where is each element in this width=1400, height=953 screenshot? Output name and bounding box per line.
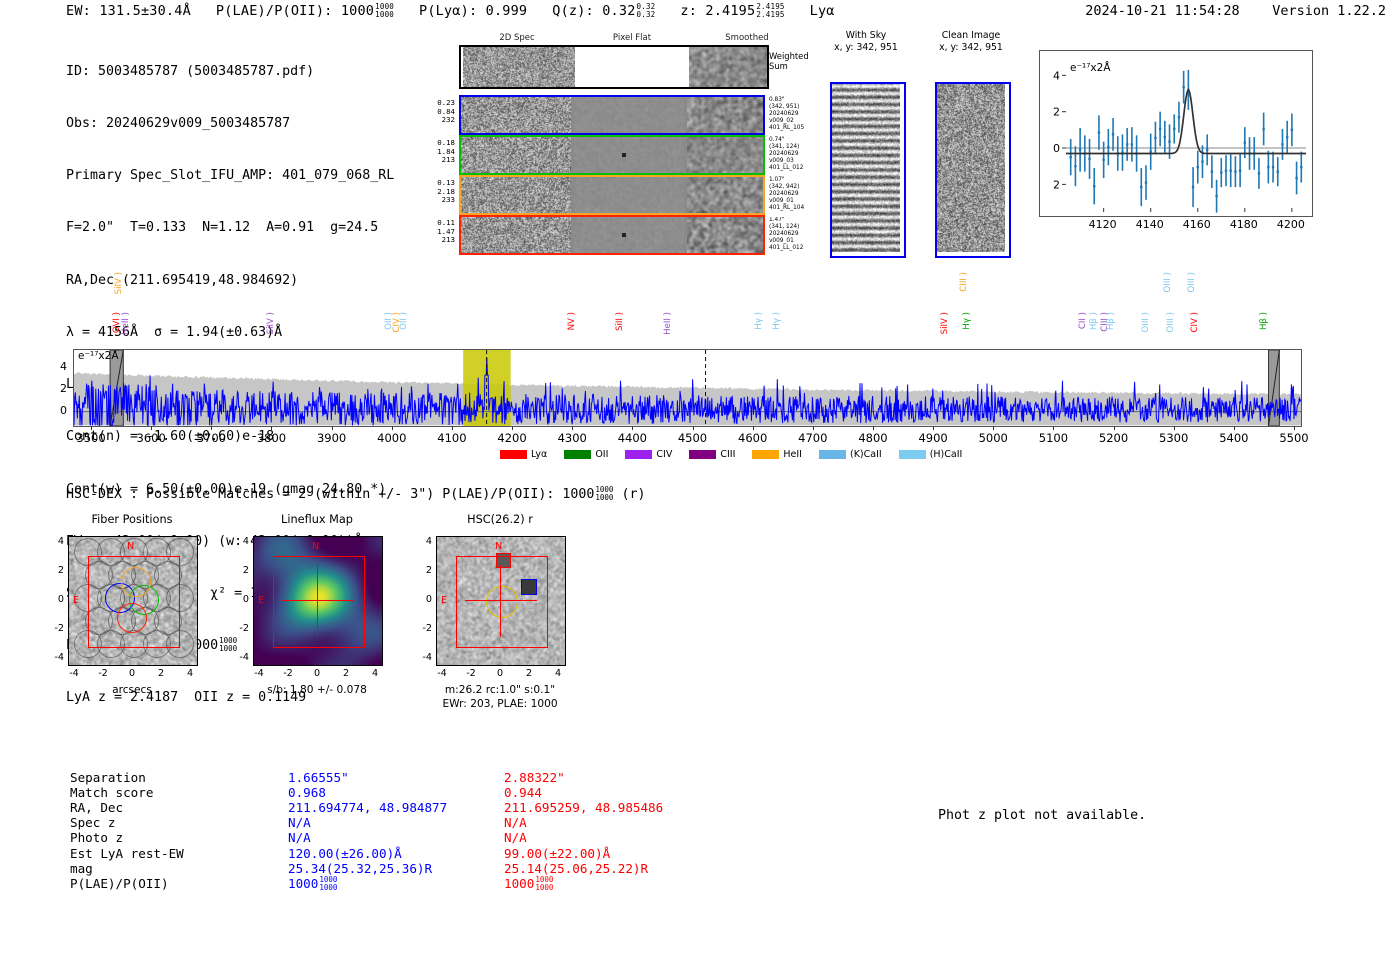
- match-row-value-red: 2.88322": [504, 770, 565, 785]
- fov-box: [456, 556, 548, 648]
- hsc-panel-title: HSC(26.2) r: [408, 513, 592, 526]
- match-row-value-red: 0.944: [504, 785, 542, 800]
- hsc-ytick: 2: [229, 565, 249, 576]
- match-row-value-blue: 1.66555": [288, 770, 349, 785]
- hsc-panel-caption: m:26.2 rc:1.0" s:0.1": [396, 684, 604, 696]
- hsc-ytick: 2: [44, 565, 64, 576]
- hsc-ytick: 0: [229, 594, 249, 605]
- hsc-panel-title: Lineflux Map: [225, 513, 409, 526]
- hsc-ytick: 2: [412, 565, 432, 576]
- hsc-ytick: -4: [412, 652, 432, 663]
- hsc-panel-image: NE: [253, 536, 383, 666]
- fov-box: [273, 556, 365, 648]
- match-row-value-blue: 120.00(±26.00)Å: [288, 846, 402, 861]
- match-row-value-blue: 211.694774, 48.984877: [288, 800, 447, 815]
- hsc-xtick: 2: [332, 668, 360, 679]
- compass-east: E: [441, 595, 447, 606]
- hsc-ytick: -2: [229, 623, 249, 634]
- match-row-label: Match score: [70, 785, 153, 800]
- hsc-panel-image: NE: [436, 536, 566, 666]
- match-row-value-red: 25.14(25.06,25.22)R: [504, 861, 648, 876]
- match-row-label: mag: [70, 861, 93, 876]
- compass-north: N: [312, 541, 319, 552]
- hsc-xtick: 0: [303, 668, 331, 679]
- match-row-value-blue: N/A: [288, 830, 311, 845]
- hsc-cutout-panels: Fiber PositionsNE4-42-200-22-44arcsecsLi…: [0, 0, 1400, 730]
- hsc-ytick: -2: [44, 623, 64, 634]
- hsc-xtick: -2: [89, 668, 117, 679]
- hsc-ytick: -4: [44, 652, 64, 663]
- match-row-value-red: 100010001000: [504, 876, 553, 893]
- match-row-label: P(LAE)/P(OII): [70, 876, 169, 891]
- hsc-xtick: 2: [515, 668, 543, 679]
- match-row-value-red: N/A: [504, 830, 527, 845]
- hsc-ytick: 4: [229, 536, 249, 547]
- hsc-xtick: 0: [118, 668, 146, 679]
- photz-note: Phot z plot not available.: [938, 808, 1146, 823]
- match-row-value-blue: 25.34(25.32,25.36)R: [288, 861, 432, 876]
- hsc-xtick: 0: [486, 668, 514, 679]
- compass-north: N: [127, 541, 134, 552]
- hsc-xtick: 4: [176, 668, 204, 679]
- match-row-value-red: 99.00(±22.00)Å: [504, 846, 610, 861]
- hsc-xtick: -4: [428, 668, 456, 679]
- match-row-label: RA, Dec: [70, 800, 123, 815]
- crosshair-vertical: [500, 565, 501, 637]
- match-row-label: Photo z: [70, 830, 123, 845]
- match-row-value-red: 211.695259, 48.985486: [504, 800, 663, 815]
- hsc-xtick: -2: [457, 668, 485, 679]
- match-row-label: Separation: [70, 770, 146, 785]
- hsc-xtick: -4: [245, 668, 273, 679]
- match-row-value-blue: 100010001000: [288, 876, 337, 893]
- match-row-value-blue: 0.968: [288, 785, 326, 800]
- hsc-panel-caption: arcsecs: [28, 684, 236, 696]
- crosshair-vertical: [317, 565, 318, 637]
- hsc-xtick: -2: [274, 668, 302, 679]
- hsc-panel-caption-2: EWr: 203, PLAE: 1000: [396, 698, 604, 710]
- hsc-xtick: 4: [544, 668, 572, 679]
- hsc-ytick: 0: [412, 594, 432, 605]
- hsc-panel-caption: s/b: 1.80 +/- 0.078: [213, 684, 421, 696]
- hsc-xtick: -4: [60, 668, 88, 679]
- fov-box: [88, 556, 180, 648]
- hsc-xtick: 4: [361, 668, 389, 679]
- match-row-value-red: N/A: [504, 815, 527, 830]
- hsc-ytick: 4: [44, 536, 64, 547]
- hsc-ytick: -2: [412, 623, 432, 634]
- hsc-ytick: -4: [229, 652, 249, 663]
- match-row-label: Est LyA rest-EW: [70, 846, 184, 861]
- match-row-label: Spec z: [70, 815, 116, 830]
- match-row-value-blue: N/A: [288, 815, 311, 830]
- hsc-xtick: 2: [147, 668, 175, 679]
- hsc-panel-image: NE: [68, 536, 198, 666]
- compass-east: E: [258, 595, 264, 606]
- hsc-panel-title: Fiber Positions: [40, 513, 224, 526]
- compass-north: N: [495, 541, 502, 552]
- hsc-ytick: 4: [412, 536, 432, 547]
- compass-east: E: [73, 595, 79, 606]
- hsc-ytick: 0: [44, 594, 64, 605]
